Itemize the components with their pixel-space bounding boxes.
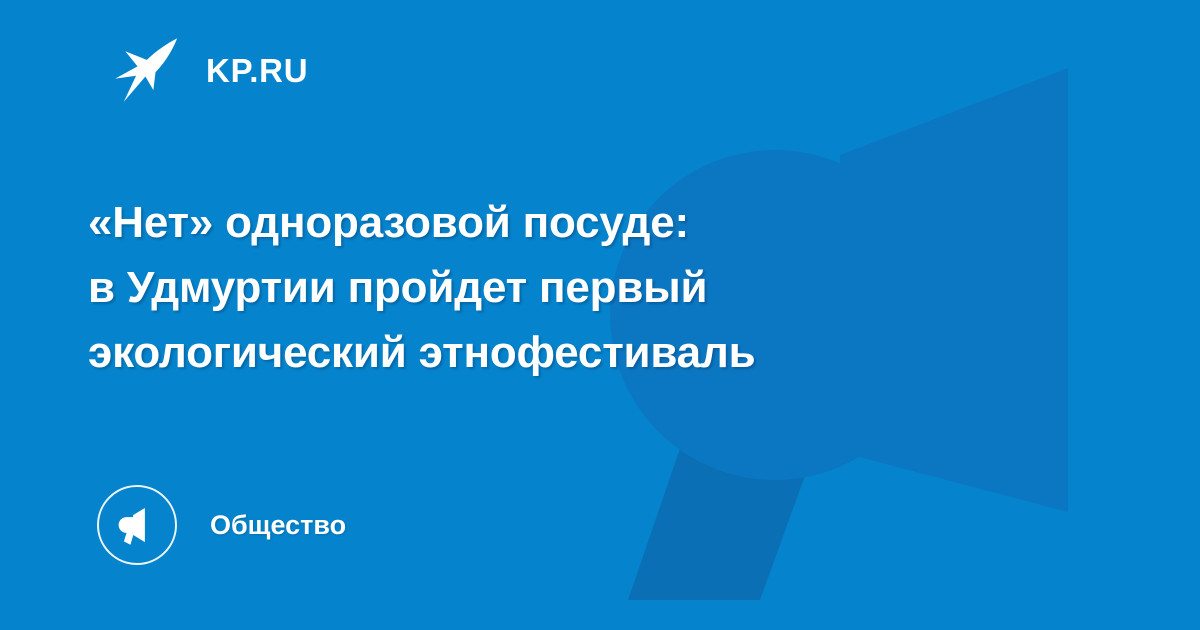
category-icon-circle [97,485,177,565]
headline-line-2: в Удмуртии пройдет первый [88,255,1048,320]
swallow-bird-logo-icon[interactable] [108,34,180,106]
watermark-handle [628,390,836,600]
category-label: Общество [210,512,346,539]
category-badge[interactable]: Общество [97,484,346,566]
site-header: KP.RU [108,33,308,107]
article-share-card: KP.RU «Нет» одноразовой посуде: в Удмурт… [0,0,1200,630]
page-title: «Нет» одноразовой посуде: в Удмуртии про… [88,190,1048,385]
brand-title: KP.RU [206,54,308,87]
megaphone-icon [116,504,158,546]
headline-line-3: экологический этнофестиваль [88,320,1048,385]
headline-line-1: «Нет» одноразовой посуде: [88,190,1048,255]
